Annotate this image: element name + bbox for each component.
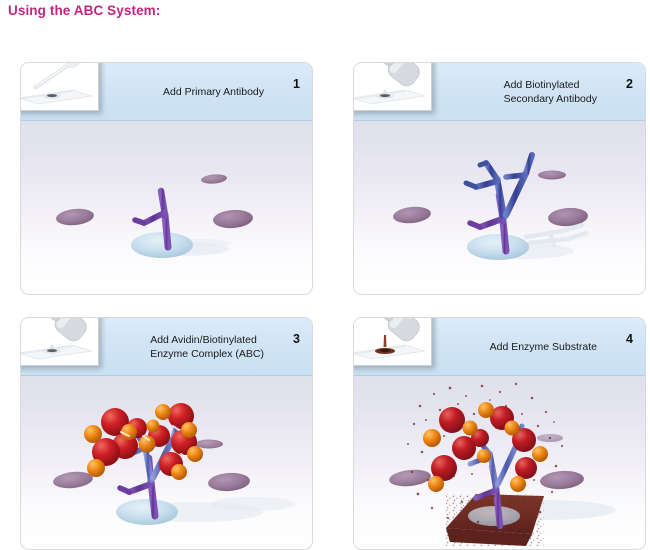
antigen-ellipse xyxy=(538,171,566,180)
slide-disc xyxy=(468,506,520,526)
slide-disc xyxy=(467,234,529,260)
antigen-ellipse xyxy=(207,472,250,493)
dropper-bottle-brown-drop-icon xyxy=(353,317,432,366)
panel-step-number: 2 xyxy=(626,77,633,91)
antigen-ellipse xyxy=(52,470,93,490)
antigen-ellipse xyxy=(539,469,584,490)
panel-title-label: Add Avidin/Biotinylated Enzyme Complex (… xyxy=(150,318,264,376)
panel-title-label: Add Enzyme Substrate xyxy=(490,318,597,376)
floor-shadow xyxy=(211,497,295,511)
enzyme-substrate-scene xyxy=(354,376,645,550)
antigen-ellipse xyxy=(212,209,253,230)
antigen-ellipse xyxy=(201,173,228,184)
free-antibody xyxy=(526,225,586,245)
secondary-antibody-scene xyxy=(354,121,645,295)
antigen-ellipse xyxy=(392,205,431,225)
antigen-ellipse xyxy=(55,207,94,227)
pipette-over-slide-icon xyxy=(20,62,99,111)
page-title: Using the ABC System: xyxy=(8,3,160,18)
panel-title-label: Add Primary Antibody xyxy=(163,63,264,121)
abc-complex-scene xyxy=(21,376,312,550)
panel-step-4: Add Enzyme Substrate 4 xyxy=(353,317,646,550)
primary-antibody-scene xyxy=(21,121,312,295)
panel-step-3: Add Avidin/Biotinylated Enzyme Complex (… xyxy=(20,317,313,550)
slide-disc xyxy=(116,499,178,525)
panel-step-number: 4 xyxy=(626,332,633,346)
panel-step-1: Add Primary Antibody 1 xyxy=(20,62,313,295)
panel-step-number: 3 xyxy=(293,332,300,346)
dropper-bottle-over-slide-icon xyxy=(353,62,432,111)
panel-step-number: 1 xyxy=(293,77,300,91)
secondary-antibody xyxy=(466,155,532,217)
antigen-ellipse xyxy=(388,468,431,488)
slide-disc xyxy=(131,232,193,258)
panel-title-label: Add Biotinylated Secondary Antibody xyxy=(504,63,597,121)
panel-step-2: Add Biotinylated Secondary Antibody 2 xyxy=(353,62,646,295)
dropper-bottle-over-slide-icon xyxy=(20,317,99,366)
antigen-ellipse xyxy=(195,440,223,449)
